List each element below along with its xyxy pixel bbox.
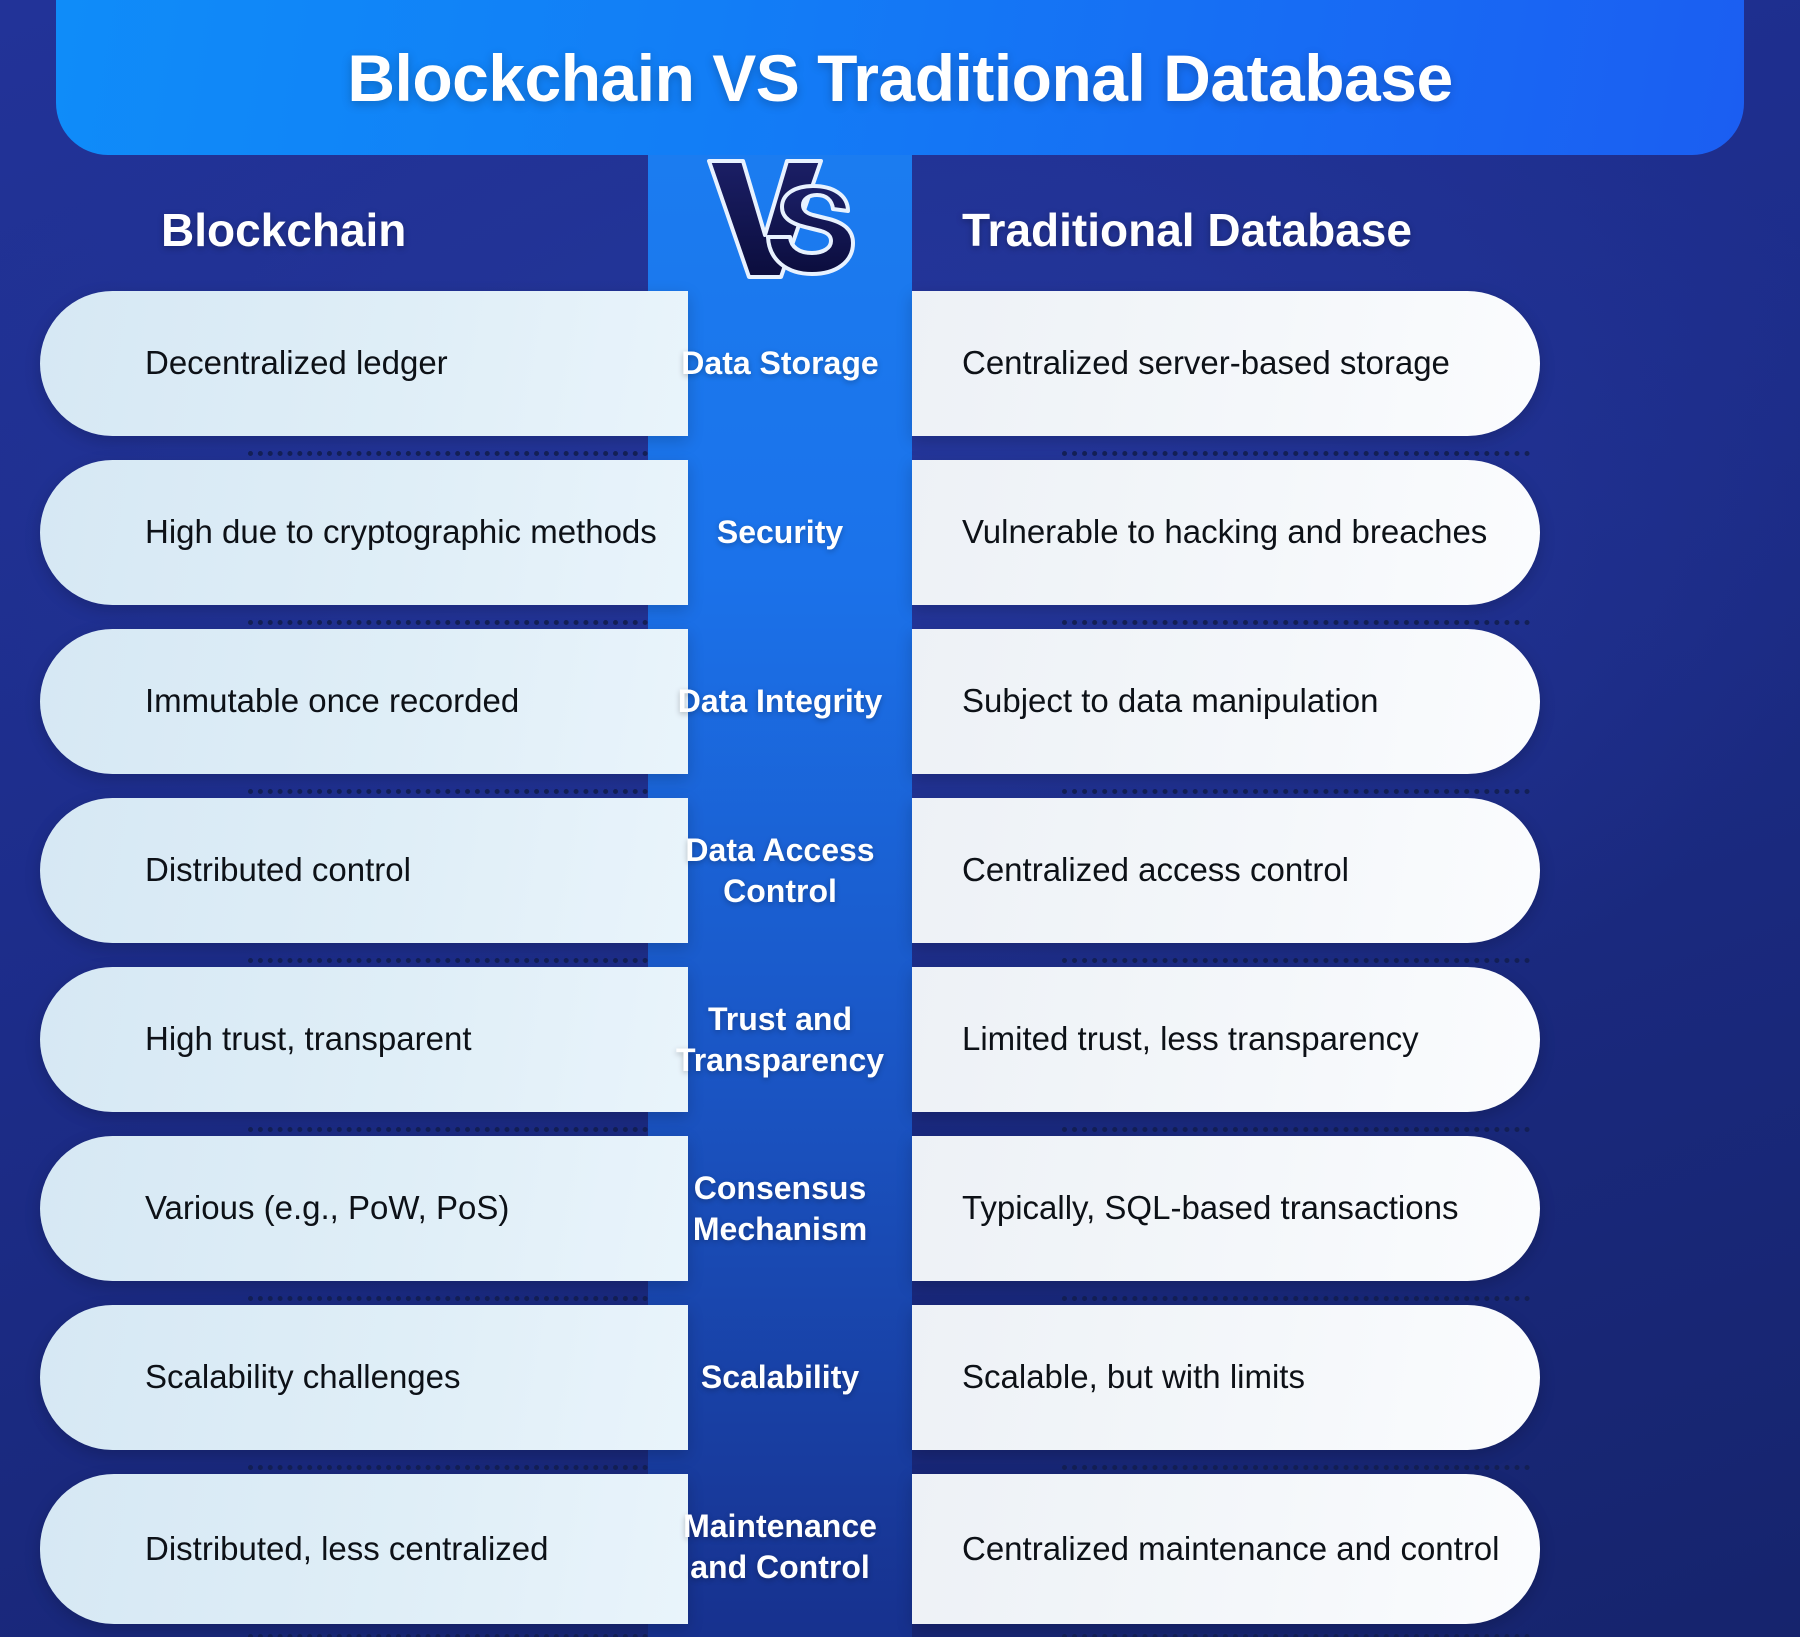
traditional-database-cell: Subject to data manipulation (912, 629, 1540, 774)
traditional-database-cell-text: Vulnerable to hacking and breaches (962, 511, 1487, 554)
comparison-rows: Decentralized ledgerData StorageCentrali… (0, 285, 1800, 1637)
traditional-database-cell: Typically, SQL-based transactions (912, 1136, 1540, 1281)
column-heading-traditional-database: Traditional Database (912, 185, 1744, 275)
blockchain-cell: Distributed control (40, 798, 688, 943)
blockchain-cell-text: High due to cryptographic methods (145, 511, 657, 554)
traditional-database-cell-text: Subject to data manipulation (962, 680, 1378, 723)
criterion-label: Data Integrity (648, 629, 912, 774)
traditional-database-cell-text: Scalable, but with limits (962, 1356, 1305, 1399)
comparison-row: High due to cryptographic methodsSecurit… (0, 454, 1800, 623)
criterion-label-text: Data Storage (681, 343, 878, 383)
criterion-label-text: Maintenance and Control (662, 1506, 898, 1587)
column-heading-blockchain-label: Blockchain (161, 203, 406, 257)
blockchain-cell: High trust, transparent (40, 967, 688, 1112)
comparison-row: Immutable once recordedData IntegritySub… (0, 623, 1800, 792)
blockchain-cell: High due to cryptographic methods (40, 460, 688, 605)
criterion-label-text: Trust and Transparency (662, 999, 898, 1080)
criterion-label: Trust and Transparency (648, 967, 912, 1112)
traditional-database-cell-text: Centralized server-based storage (962, 342, 1450, 385)
comparison-row: High trust, transparentTrust and Transpa… (0, 961, 1800, 1130)
criterion-label: Consensus Mechanism (648, 1136, 912, 1281)
traditional-database-cell: Centralized access control (912, 798, 1540, 943)
column-heading-traditional-database-label: Traditional Database (962, 203, 1412, 257)
traditional-database-cell-text: Limited trust, less transparency (962, 1018, 1419, 1061)
comparison-row: Distributed controlData Access ControlCe… (0, 792, 1800, 961)
header-banner: Blockchain VS Traditional Database (56, 0, 1744, 155)
page-title: Blockchain VS Traditional Database (347, 40, 1452, 116)
traditional-database-cell: Vulnerable to hacking and breaches (912, 460, 1540, 605)
blockchain-cell-text: Distributed, less centralized (145, 1528, 549, 1571)
traditional-database-cell: Scalable, but with limits (912, 1305, 1540, 1450)
criterion-label: Maintenance and Control (648, 1474, 912, 1619)
comparison-row: Distributed, less centralizedMaintenance… (0, 1468, 1800, 1637)
criterion-label-text: Security (717, 512, 843, 552)
traditional-database-cell-text: Centralized maintenance and control (962, 1528, 1500, 1571)
traditional-database-cell: Centralized server-based storage (912, 291, 1540, 436)
comparison-row: Decentralized ledgerData StorageCentrali… (0, 285, 1800, 454)
traditional-database-cell: Limited trust, less transparency (912, 967, 1540, 1112)
criterion-label-text: Data Integrity (678, 681, 882, 721)
criterion-label: Security (648, 460, 912, 605)
blockchain-cell-text: High trust, transparent (145, 1018, 472, 1061)
infographic-canvas: Blockchain VS Traditional Database Block… (0, 0, 1800, 1637)
column-heading-blockchain: Blockchain (56, 185, 648, 275)
blockchain-cell: Scalability challenges (40, 1305, 688, 1450)
criterion-label: Scalability (648, 1305, 912, 1450)
traditional-database-cell-text: Centralized access control (962, 849, 1349, 892)
criterion-label: Data Storage (648, 291, 912, 436)
criterion-label-text: Scalability (701, 1357, 859, 1397)
criterion-label-text: Consensus Mechanism (662, 1168, 898, 1249)
blockchain-cell-text: Distributed control (145, 849, 411, 892)
blockchain-cell-text: Decentralized ledger (145, 342, 448, 385)
blockchain-cell: Various (e.g., PoW, PoS) (40, 1136, 688, 1281)
blockchain-cell-text: Scalability challenges (145, 1356, 461, 1399)
comparison-row: Scalability challengesScalabilityScalabl… (0, 1299, 1800, 1468)
blockchain-cell-text: Immutable once recorded (145, 680, 519, 723)
traditional-database-cell: Centralized maintenance and control (912, 1474, 1540, 1624)
criterion-label: Data Access Control (648, 798, 912, 943)
blockchain-cell: Immutable once recorded (40, 629, 688, 774)
traditional-database-cell-text: Typically, SQL-based transactions (962, 1187, 1458, 1230)
blockchain-cell-text: Various (e.g., PoW, PoS) (145, 1187, 509, 1230)
blockchain-cell: Decentralized ledger (40, 291, 688, 436)
comparison-row: Various (e.g., PoW, PoS)Consensus Mechan… (0, 1130, 1800, 1299)
criterion-label-text: Data Access Control (662, 830, 898, 911)
blockchain-cell: Distributed, less centralized (40, 1474, 688, 1624)
